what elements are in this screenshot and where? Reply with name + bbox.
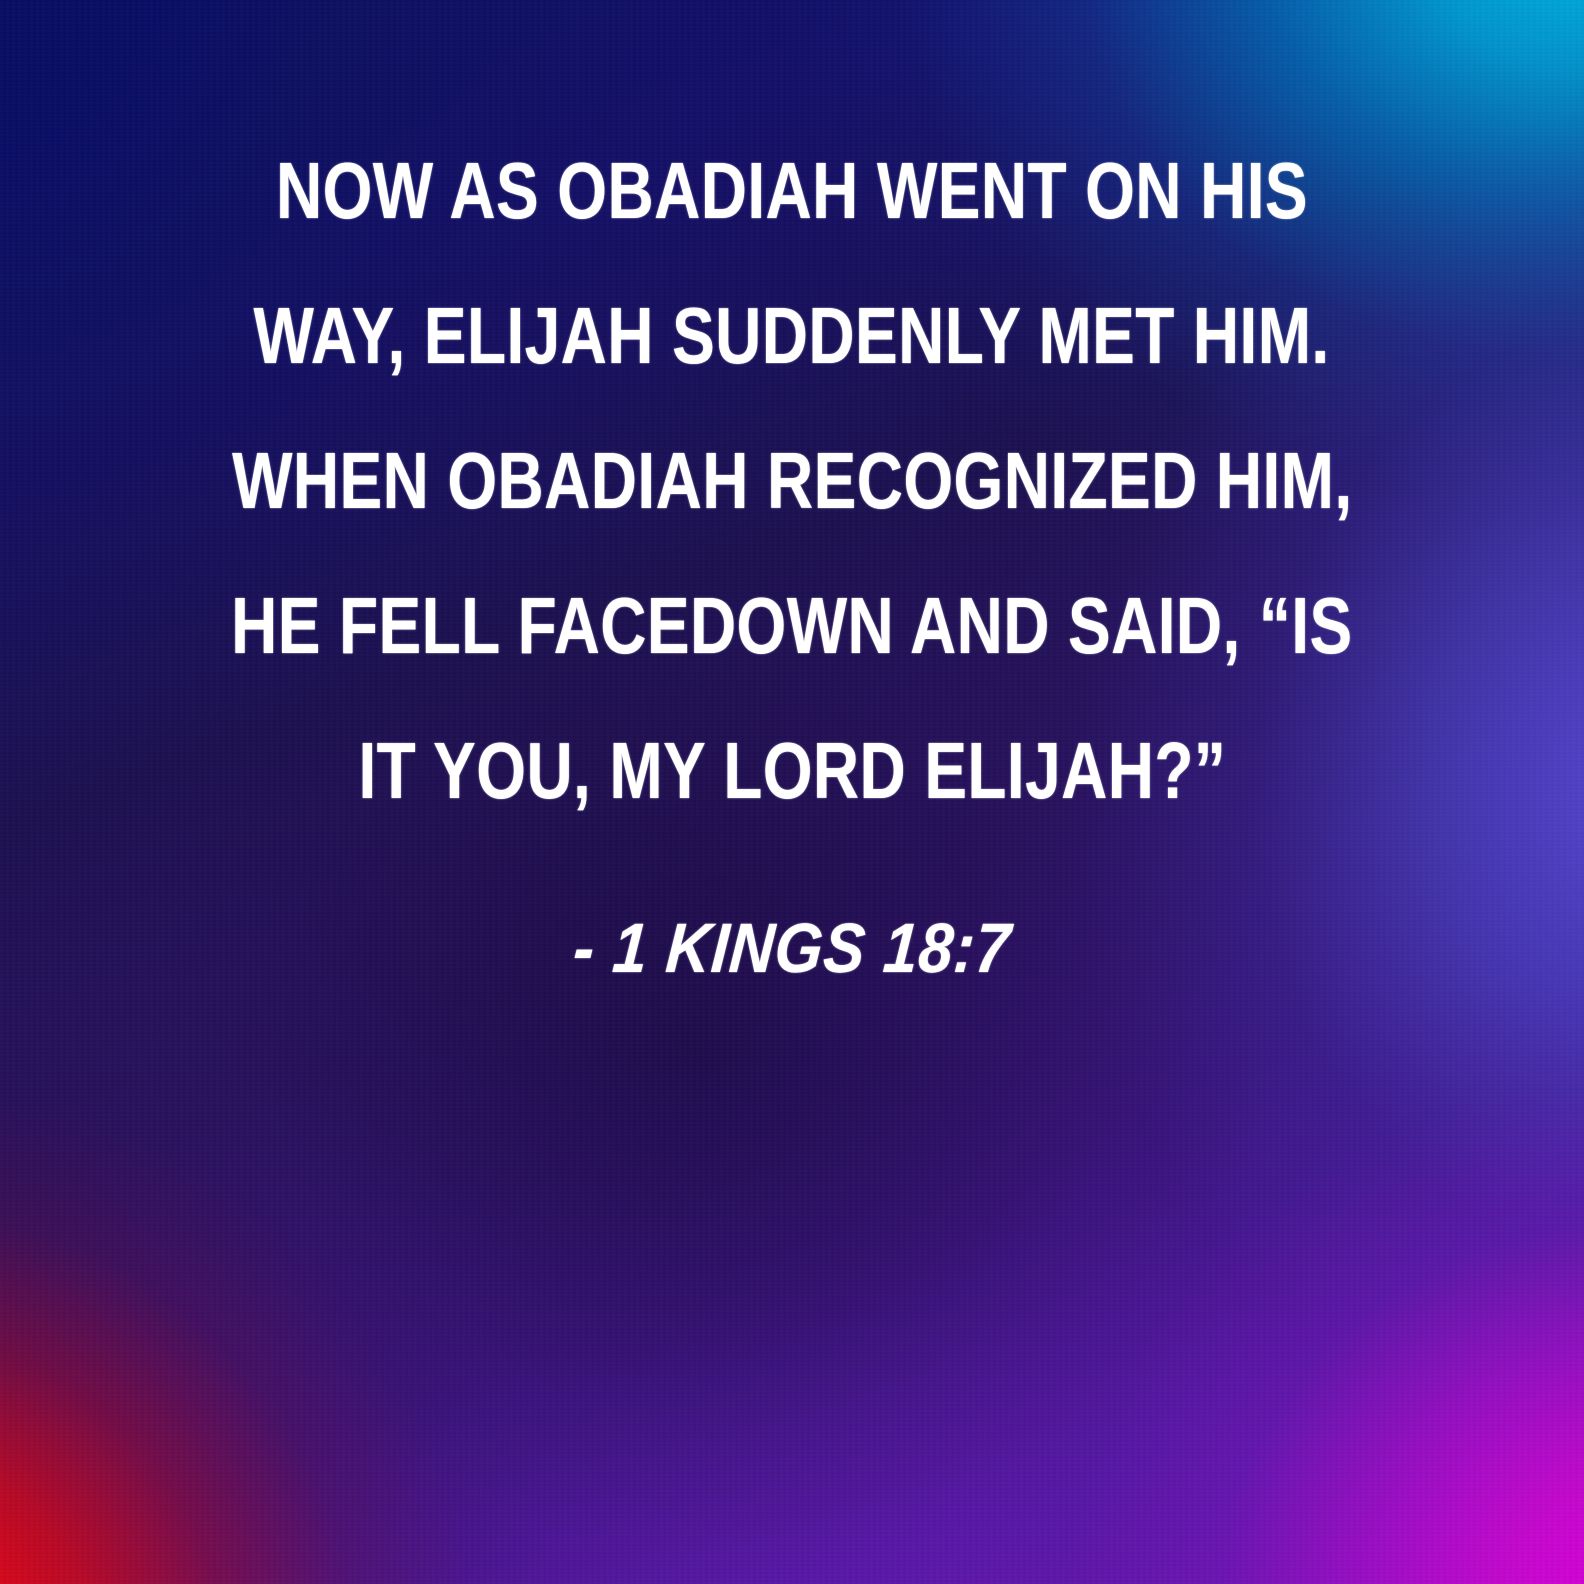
verse-image-canvas: NOW AS OBADIAH WENT ON HIS WAY, ELIJAH S…: [0, 0, 1584, 1584]
verse-attribution: - 1 KINGS 18:7: [570, 905, 1013, 991]
verse-line-1: NOW AS OBADIAH WENT ON HIS: [276, 118, 1308, 263]
verse-line-2: WAY, ELIJAH SUDDENLY MET HIM.: [254, 263, 1330, 408]
verse-line-3: WHEN OBADIAH RECOGNIZED HIM,: [232, 408, 1353, 553]
verse-text-block: NOW AS OBADIAH WENT ON HIS WAY, ELIJAH S…: [0, 118, 1584, 991]
verse-line-5: IT YOU, MY LORD ELIJAH?”: [358, 698, 1226, 843]
verse-line-4: HE FELL FACEDOWN AND SAID, “IS: [231, 553, 1352, 698]
